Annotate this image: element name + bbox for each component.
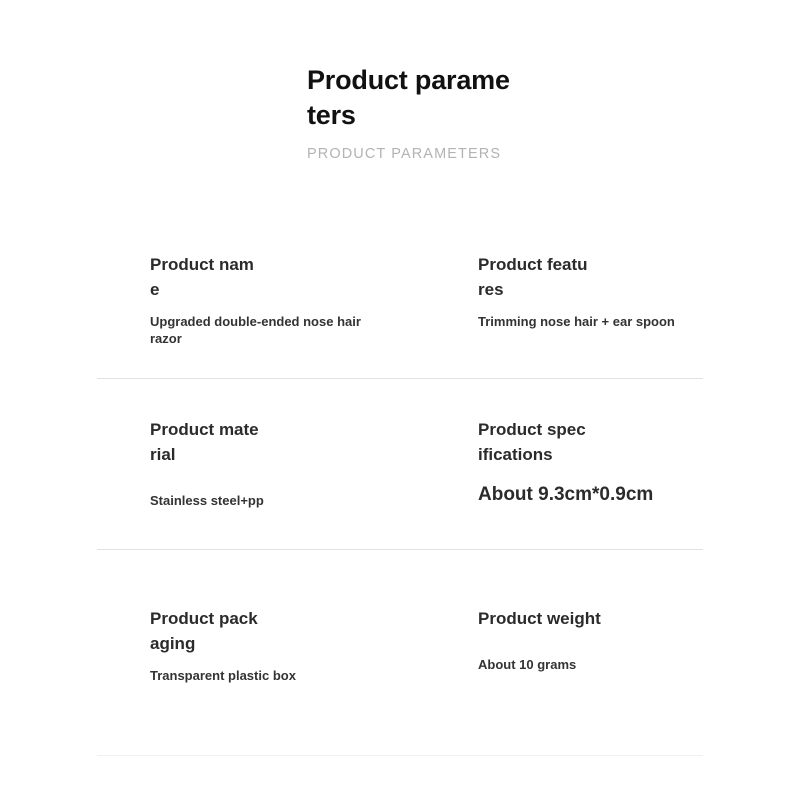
spec-cell-product-packaging: Product packaging Transparent plastic bo… — [150, 606, 450, 684]
page-subtitle: PRODUCT PARAMETERS — [307, 145, 537, 163]
spec-label: Product material — [150, 417, 260, 467]
spec-label: Product specifications — [478, 417, 588, 467]
spec-value: Transparent plastic box — [150, 667, 365, 684]
spec-label: Product weight — [478, 606, 678, 631]
product-parameters-page: Product parameters PRODUCT PARAMETERS Pr… — [0, 0, 800, 800]
page-title: Product parameters — [307, 63, 512, 133]
spec-value: About 9.3cm*0.9cm — [478, 483, 738, 507]
spec-cell-product-specifications: Product specifications About 9.3cm*0.9cm — [478, 417, 778, 507]
spec-value: Trimming nose hair + ear spoon — [478, 313, 693, 330]
row-divider — [97, 378, 703, 379]
spec-value: About 10 grams — [478, 656, 693, 673]
spec-label: Product packaging — [150, 606, 260, 656]
row-divider — [97, 549, 703, 550]
page-header: Product parameters PRODUCT PARAMETERS — [307, 63, 537, 163]
spec-cell-product-material: Product material Stainless steel+pp — [150, 417, 450, 509]
spec-value: Upgraded double-ended nose hair razor — [150, 313, 365, 347]
spec-value: Stainless steel+pp — [150, 492, 365, 509]
spec-label: Product features — [478, 252, 588, 302]
spec-cell-product-features: Product features Trimming nose hair + ea… — [478, 252, 778, 330]
spec-cell-product-weight: Product weight About 10 grams — [478, 606, 778, 673]
spec-cell-product-name: Product name Upgraded double-ended nose … — [150, 252, 450, 347]
row-divider — [97, 755, 703, 756]
spec-label: Product name — [150, 252, 260, 302]
